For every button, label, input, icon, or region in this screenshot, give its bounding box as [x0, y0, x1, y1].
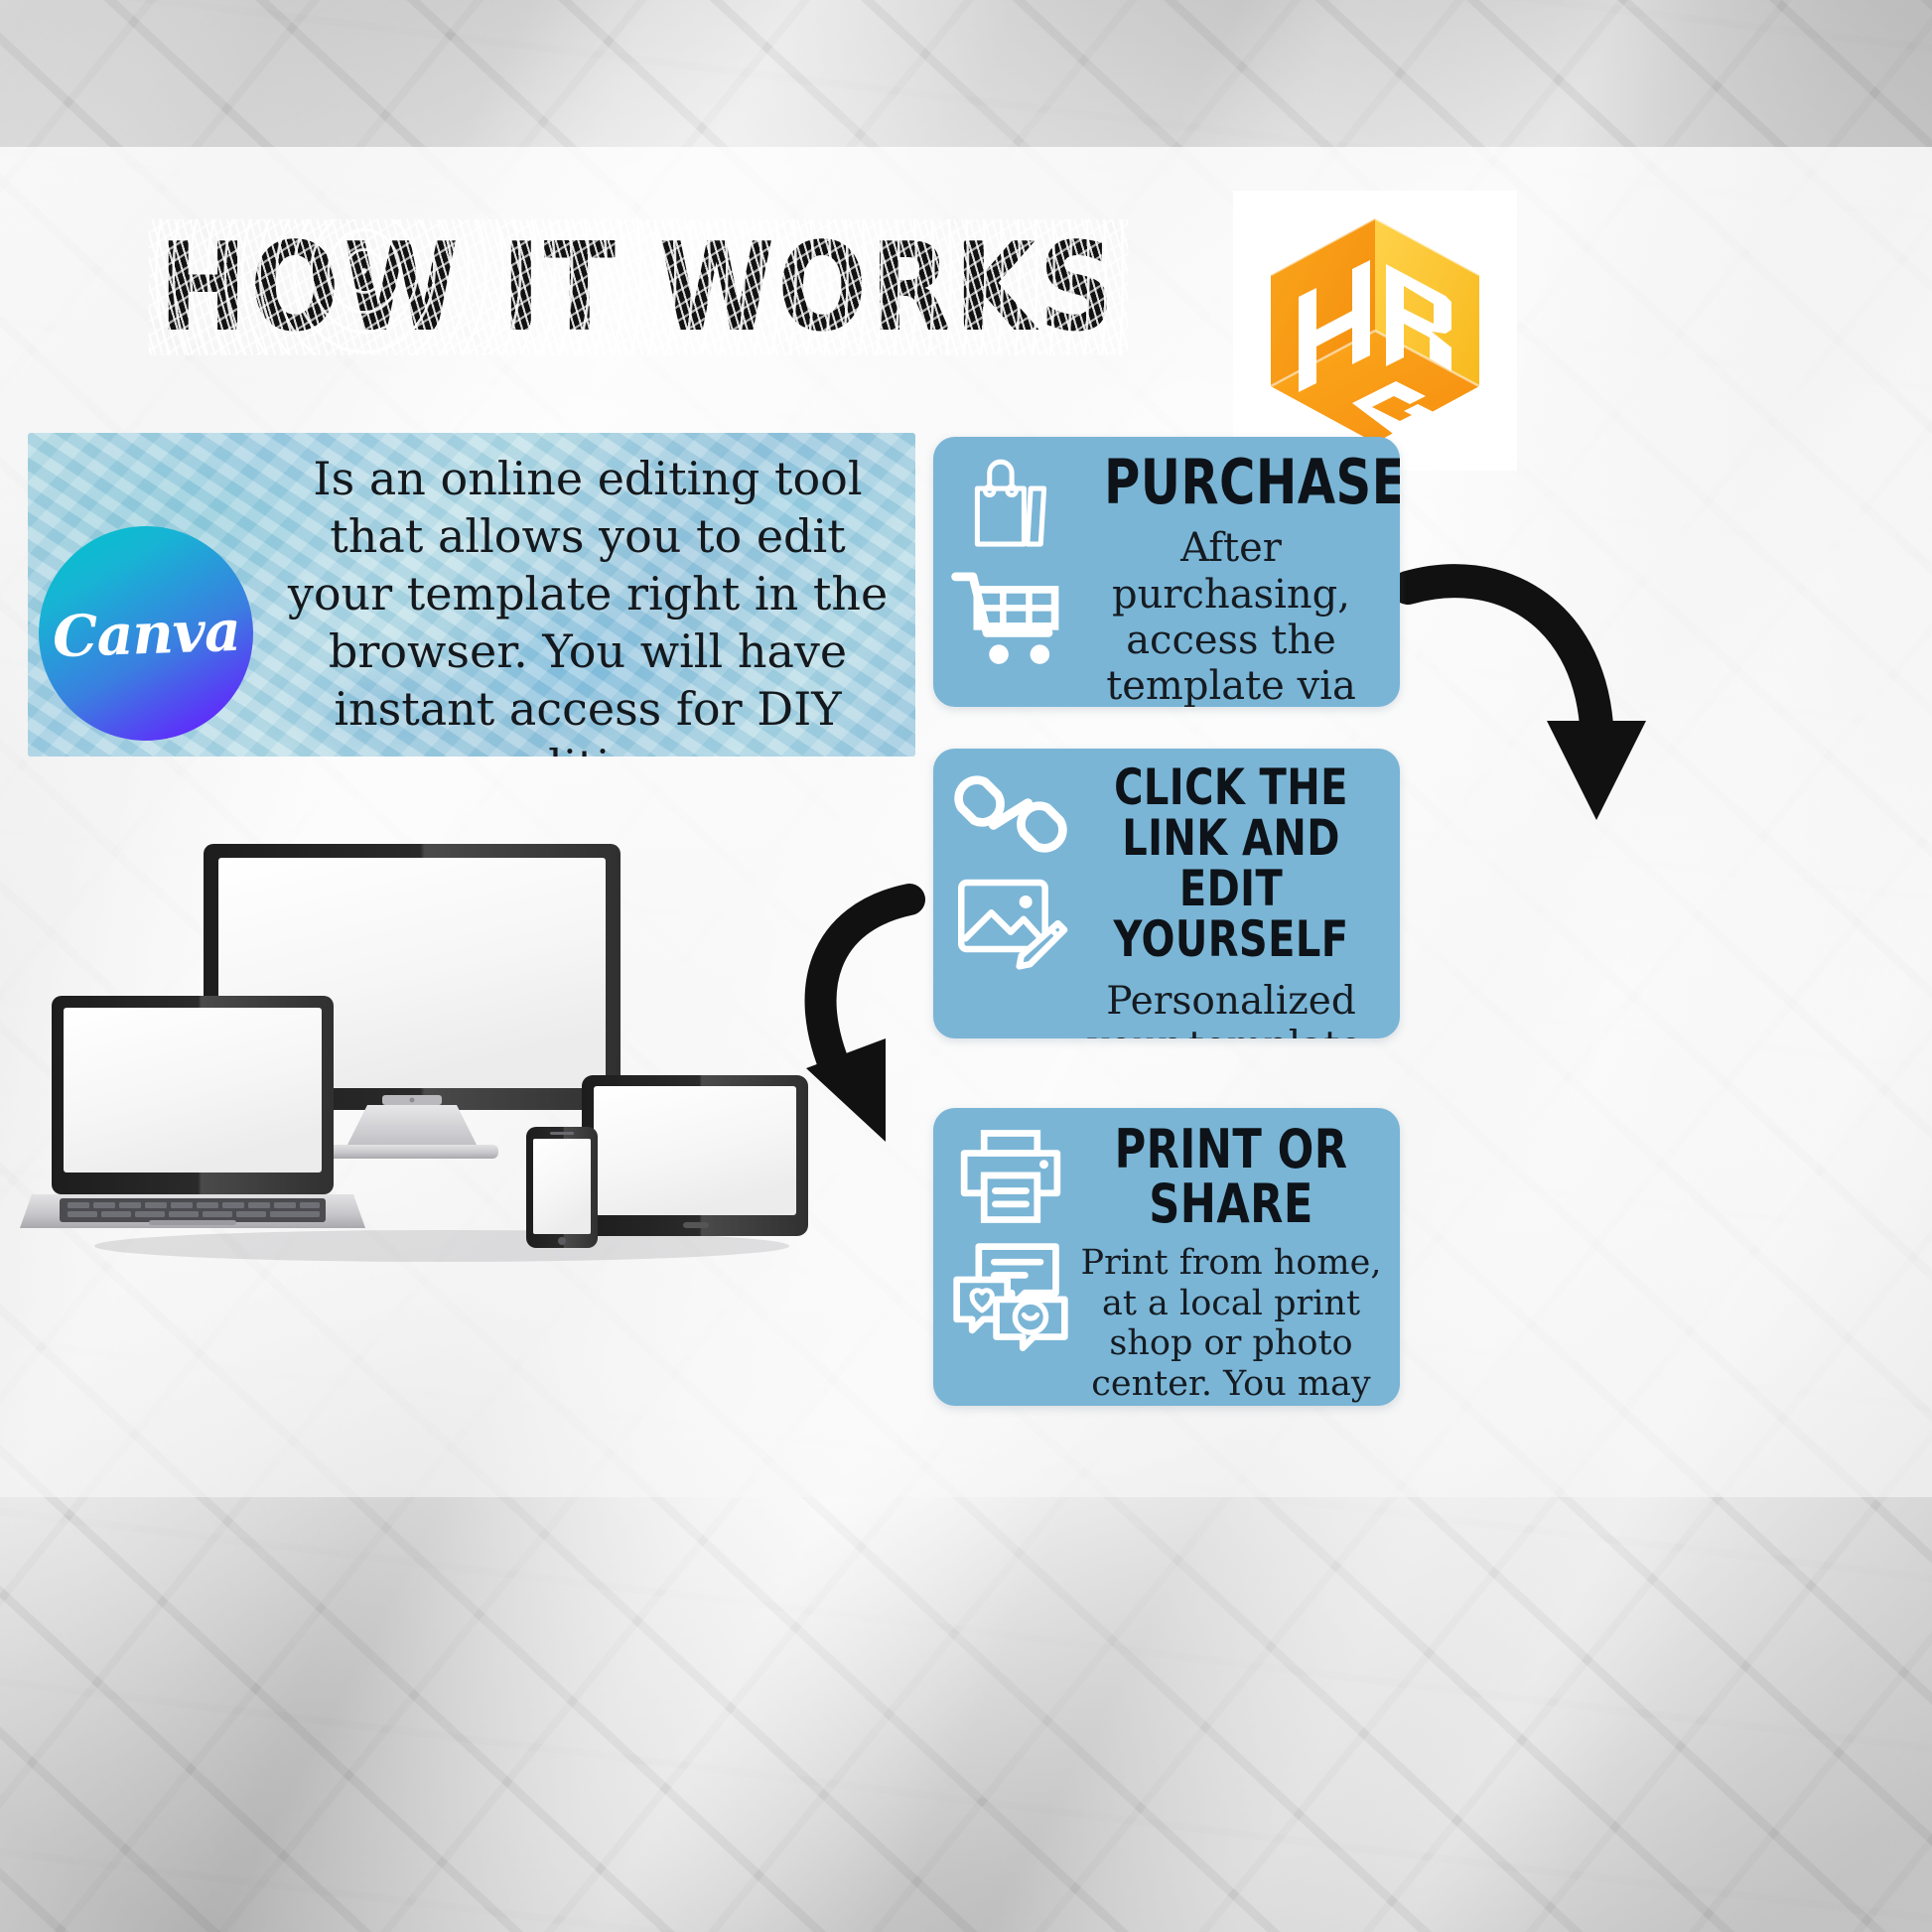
print-share-body: Print from home, at a local print shop o… — [1072, 1243, 1390, 1406]
shopping-bag-icon — [955, 451, 1066, 562]
print-share-icon-stack — [947, 1122, 1074, 1346]
shopping-cart-icon — [951, 566, 1070, 665]
purchase-icon-stack — [947, 451, 1074, 665]
image-edit-pencil-icon — [952, 870, 1069, 975]
purchase-heading: PURCHASE — [1104, 451, 1358, 513]
step-card-purchase[interactable]: PURCHASE After purchasing, access the te… — [933, 437, 1400, 707]
purchase-text-block: PURCHASE After purchasing, access the te… — [1072, 451, 1390, 707]
click-link-heading: CLICK THE LINK AND EDIT YOURSELF — [1104, 762, 1358, 965]
brand-logo-box — [1233, 191, 1517, 471]
laptop-mockup — [20, 996, 365, 1228]
social-share-bubbles-icon — [950, 1235, 1071, 1346]
canva-logo-icon: Canva — [39, 526, 253, 741]
smartphone-mockup — [526, 1127, 598, 1248]
canva-logo-label: Canva — [51, 597, 240, 670]
chain-link-icon — [952, 762, 1069, 866]
tablet-mockup — [582, 1075, 808, 1236]
page-title: HOW IT WORKS — [159, 226, 1118, 348]
hrg-cube-logo-icon — [1261, 212, 1489, 449]
arrow-devices-to-print-icon — [794, 894, 923, 1152]
purchase-body: After purchasing, access the template vi… — [1072, 525, 1390, 707]
canva-info-panel: Canva Is an online editing tool that all… — [28, 433, 915, 757]
step-card-print-or-share[interactable]: PRINT OR SHARE Print from home, at a loc… — [933, 1108, 1400, 1406]
canva-description: Is an online editing tool that allows yo… — [272, 451, 903, 757]
print-share-heading: PRINT OR SHARE — [1104, 1122, 1358, 1231]
print-share-text-block: PRINT OR SHARE Print from home, at a loc… — [1072, 1122, 1390, 1406]
printer-icon — [953, 1122, 1068, 1231]
click-link-body: Personalized your template, save and dow… — [1072, 979, 1390, 1038]
step-card-click-the-link[interactable]: CLICK THE LINK AND EDIT YOURSELF Persona… — [933, 749, 1400, 1038]
click-link-icon-stack — [947, 762, 1074, 975]
poster-canvas: HOW IT WORKS — [0, 0, 1932, 1932]
arrow-purchase-to-click-icon — [1402, 576, 1640, 824]
device-mockup-group — [30, 839, 854, 1266]
click-link-text-block: CLICK THE LINK AND EDIT YOURSELF Persona… — [1072, 762, 1390, 1038]
